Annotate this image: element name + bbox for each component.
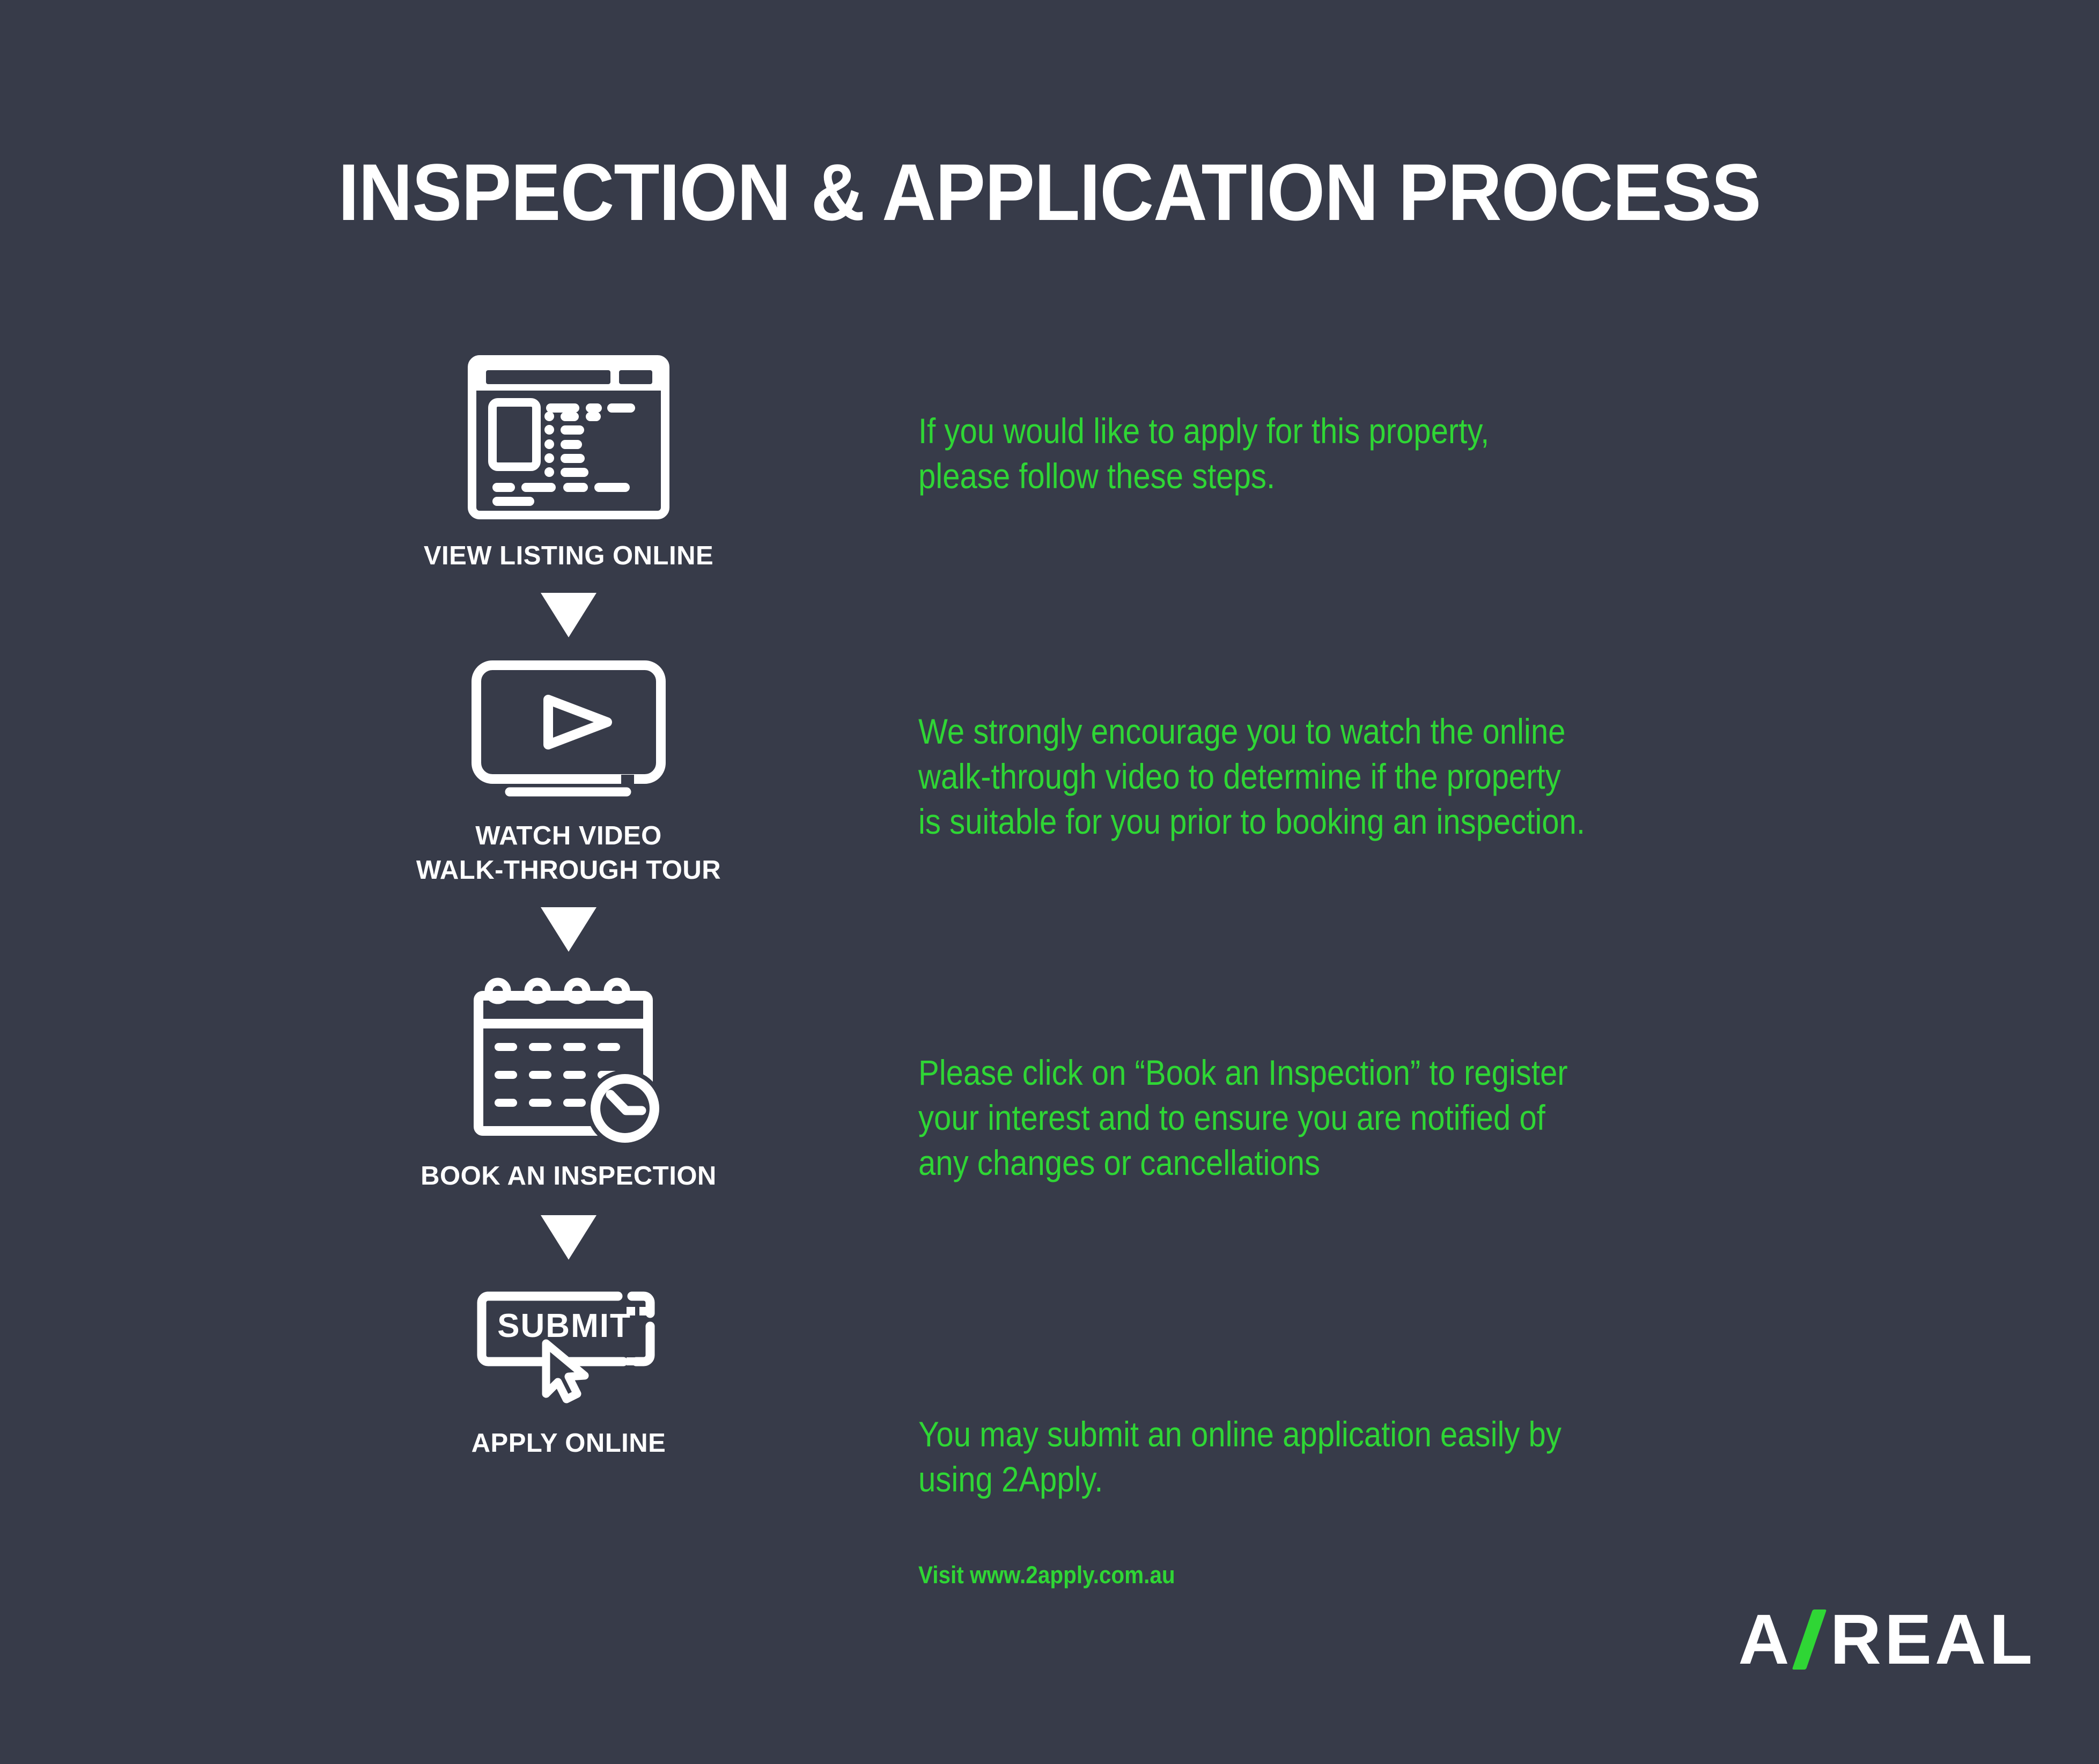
process-flow-column: VIEW LISTING ONLINE WATCH VIDEO WALK-THR… [343,354,794,1460]
listing-window-icon-wrap [343,354,794,520]
copy-step-1: If you would like to apply for this prop… [918,409,1489,499]
flow-step-apply-online: SUBMIT APPLY ONLINE [343,1280,794,1461]
submit-word: SUBMIT [497,1307,631,1344]
flow-step-watch-video: WATCH VIDEO WALK-THROUGH TOUR [343,658,794,952]
listing-window-icon [467,354,671,520]
infographic-page: INSPECTION & APPLICATION PROCESS [0,0,2099,1764]
copy-step-2: We strongly encourage you to watch the o… [918,709,1585,844]
copy-step-3: Please click on “Book an Inspection” to … [918,1050,1568,1185]
video-play-monitor-icon [467,658,671,803]
video-play-monitor-icon-wrap [343,658,794,803]
page-title: INSPECTION & APPLICATION PROCESS [73,150,2026,235]
triangle-down-arrow-icon [343,1215,794,1260]
logo-letter-a: A [1738,1604,1792,1675]
green-slash-icon [1792,1609,1827,1670]
triangle-down-arrow-icon [343,593,794,637]
calendar-clock-icon [467,968,671,1145]
submit-button-cursor-icon: SUBMIT [467,1280,671,1414]
visit-url-text[interactable]: Visit www.2apply.com.au [918,1561,1175,1589]
step-label-watch-video: WATCH VIDEO WALK-THROUGH TOUR [343,819,794,888]
triangle-down-arrow-icon [343,907,794,952]
flow-step-view-listing: VIEW LISTING ONLINE [343,354,794,637]
calendar-clock-icon-wrap [343,968,794,1145]
copy-step-4: You may submit an online application eas… [918,1412,1562,1502]
step-label-book-inspection: BOOK AN INSPECTION [343,1159,794,1194]
areal-logo: A REAL [1738,1604,2036,1675]
flow-step-book-inspection: BOOK AN INSPECTION [343,968,794,1260]
submit-button-cursor-icon-wrap: SUBMIT [343,1280,794,1414]
step-label-view-listing: VIEW LISTING ONLINE [343,539,794,574]
logo-word-real: REAL [1830,1604,2036,1675]
step-label-apply-online: APPLY ONLINE [343,1426,794,1461]
